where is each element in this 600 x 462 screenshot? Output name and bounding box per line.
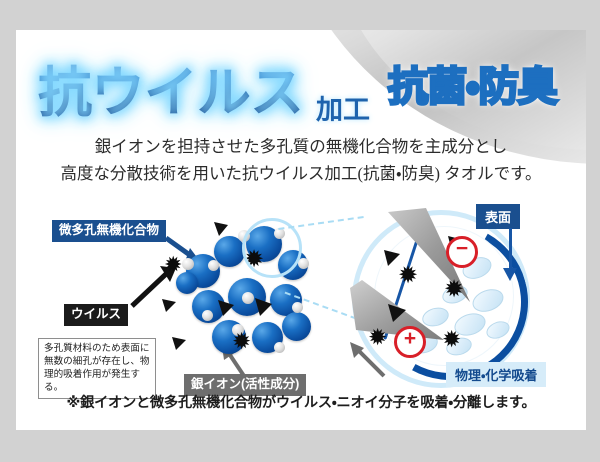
content-card: 抗ウイルス 加工 抗菌・防臭 抗菌・防臭 銀イオンを担持させた多孔質の無機化合物… <box>16 30 586 430</box>
silver-ion-dot <box>274 342 285 353</box>
charge-plus-badge: + <box>394 326 426 358</box>
label-surface: 表面 <box>476 204 520 229</box>
lead-line-1: 銀イオンを担持させた多孔質の無機化合物を主成分とし <box>16 134 586 161</box>
diagram-area: 微多孔無機化合物 ウイルス 銀イオン(活性成分) 多孔質材料のため表面に無数の細… <box>16 198 586 398</box>
virus-star-icon: ✹ <box>442 328 461 351</box>
odor-triangle-icon <box>160 296 178 314</box>
virus-star-icon: ✹ <box>232 330 251 353</box>
silver-ion-dot <box>202 310 213 321</box>
virus-star-icon: ✹ <box>164 254 182 276</box>
bottom-background-strip <box>0 430 600 462</box>
page-title: 抗ウイルス <box>38 48 303 127</box>
molecule-sphere <box>282 312 311 341</box>
silver-ion-dot <box>292 302 303 313</box>
surface-arrow-shaft <box>509 228 512 272</box>
porous-note-box: 多孔質材料のため表面に無数の細孔が存在し、物理的吸着作用が発生する。 <box>38 338 156 399</box>
virus-star-icon: ✹ <box>444 278 464 302</box>
virus-star-icon: ✹ <box>368 326 387 349</box>
virus-star-icon: ✹ <box>398 264 418 288</box>
antibacterial-badge-fill: 抗菌・防臭 <box>388 54 557 112</box>
page-title-suffix: 加工 <box>316 88 370 127</box>
odor-triangle-icon <box>386 302 408 324</box>
magnified-view: ✹ ✹ ✹ ✹ − + 表面 物理・化学吸着 <box>346 204 561 384</box>
odor-triangle-icon <box>252 296 274 318</box>
odor-triangle-icon <box>212 220 230 238</box>
silver-ion-dot <box>182 258 194 270</box>
footer-note: ※銀イオンと微多孔無機化合物がウイルス・ニオイ分子を吸着・分離します。 <box>16 392 586 412</box>
lead-paragraph: 銀イオンを担持させた多孔質の無機化合物を主成分とし 高度な分散技術を用いた抗ウイ… <box>16 134 586 187</box>
label-physical-chemical-adsorption: 物理・化学吸着 <box>446 362 546 387</box>
surface-arrow-head <box>503 268 517 281</box>
odor-triangle-icon <box>216 298 236 318</box>
label-micro-porous-compound: 微多孔無機化合物 <box>52 220 166 242</box>
infographic-root: 抗ウイルス 加工 抗菌・防臭 抗菌・防臭 銀イオンを担持させた多孔質の無機化合物… <box>0 0 600 462</box>
silver-ion-dot <box>208 260 219 271</box>
lead-line-2: 高度な分散技術を用いた抗ウイルス加工(抗菌・防臭) タオルです。 <box>16 161 586 188</box>
label-virus: ウイルス <box>64 304 128 326</box>
charge-minus-badge: − <box>446 236 478 268</box>
odor-triangle-icon <box>170 334 188 352</box>
